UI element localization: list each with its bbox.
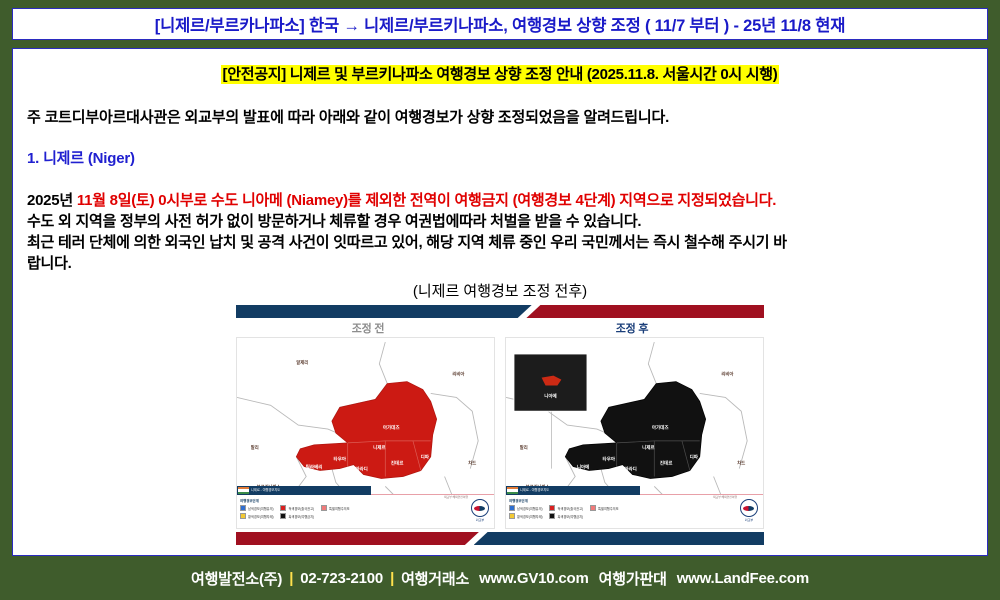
legend-item: 특별여행주의보 (321, 505, 350, 511)
paragraph-1-highlight: 11월 8일(토) 0시부로 수도 니아메 (Niamey)를 제외한 전역이 … (77, 192, 776, 209)
niger-flag-icon (507, 487, 518, 494)
legend-item: 흑색경보(여행금지) (280, 513, 314, 519)
legend-item: 적색경보(출국권고) (280, 505, 314, 511)
niger-flag-icon (238, 487, 249, 494)
top-bar-red-segment (526, 305, 764, 318)
panel-bottom-bar (236, 532, 764, 545)
map-region-label: 디파 (690, 454, 699, 461)
legend-item: 특별여행주의보 (590, 505, 619, 511)
map-region-label: 아가데즈 (652, 424, 670, 431)
map-label-row: 조정 전 조정 후 (236, 320, 764, 336)
map-neighbor-label: 말리 (251, 444, 259, 451)
legend-item: 남색경보(여행유의) (240, 505, 274, 511)
notice-highlight-title: [안전공지] 니제르 및 부르키나파소 여행경보 상향 조정 안내 (2025.… (221, 65, 780, 84)
notice-paragraph-4: 랍니다. (27, 253, 987, 274)
map-region-label: 틸라베리 (306, 464, 323, 471)
panel-top-bar (236, 305, 764, 318)
map-footer-title: 니제르 - 여행경보지도 (520, 487, 549, 492)
legend-grid: 남색경보(여행유의) 적색경보(출국권고) 특별여행주의보 황색경보(여행자제)… (240, 505, 475, 521)
map-before-footer: 니제르 - 여행경보지도 여행경보단계 남색경보(여행유의) 적색경보(출국권고… (237, 494, 494, 528)
legend-item-label: 남색경보(여행유의) (248, 506, 274, 511)
legend-title: 여행경보단계 (509, 498, 528, 503)
legend-item-label: 흑색경보(여행금지) (557, 514, 583, 519)
map-before: 알제리 리비아 말리 부르키나파소 베냉 나이지리아 차드 아가데즈 니제르 타… (236, 337, 495, 529)
mofa-seal-icon: 외교부 (470, 499, 490, 519)
legend-item: 적색경보(출국권고) (549, 505, 583, 511)
map-region-label: 디파 (421, 454, 430, 461)
legend-item-label: 황색경보(여행자제) (517, 514, 543, 519)
map-region-label: 진데르 (660, 460, 673, 467)
map-inset-capital-label: 니아메 (544, 392, 557, 399)
legend-item-label: 적색경보(출국권고) (557, 506, 583, 511)
map-row: 알제리 리비아 말리 부르키나파소 베냉 나이지리아 차드 아가데즈 니제르 타… (236, 337, 764, 529)
page-title: [니제르/부르카나파소] 한국 → 니제르/부르키나파소, 여행경보 상향 조정… (155, 12, 845, 36)
mofa-seal-caption: 외교부 (739, 518, 759, 522)
map-after-footer: 니제르 - 여행경보지도 여행경보단계 남색경보(여행유의) 적색경보(출국권고… (506, 494, 763, 528)
legend-grid: 남색경보(여행유의) 적색경보(출국권고) 특별여행주의보 황색경보(여행자제)… (509, 505, 744, 521)
legend-item-label: 특별여행주의보 (329, 506, 350, 511)
map-neighbor-label: 차드 (737, 460, 745, 467)
map-label-after: 조정 후 (500, 320, 764, 336)
footer-market-label: 여행가판대 (599, 568, 667, 589)
notice-title-row: [안전공지] 니제르 및 부르키나파소 여행경보 상향 조정 안내 (2025.… (13, 63, 987, 84)
mofa-seal-caption: 외교부 (470, 518, 490, 522)
legend-item: 황색경보(여행자제) (240, 513, 274, 519)
map-region-label: 타우아 (334, 456, 347, 463)
legend-item-label: 특별여행주의보 (598, 506, 619, 511)
legend-item-label: 남색경보(여행유의) (517, 506, 543, 511)
legend-title: 여행경보단계 (240, 498, 259, 503)
bottom-bar-red-segment (236, 532, 479, 545)
map-region-label: 마라디 (355, 466, 368, 473)
map-country-label: 니제르 (642, 444, 655, 451)
header-banner: [니제르/부르카나파소] 한국 → 니제르/부르키나파소, 여행경보 상향 조정… (12, 8, 988, 40)
map-region-label: 진데르 (391, 460, 404, 467)
paragraph-1-prefix: 2025년 (27, 192, 73, 209)
map-label-before: 조정 전 (236, 320, 500, 336)
map-neighbor-label: 리비아 (452, 371, 464, 378)
legend-item-label: 흑색경보(여행금지) (288, 514, 314, 519)
map-neighbor-label: 알제리 (296, 359, 308, 366)
map-footer-title: 니제르 - 여행경보지도 (251, 487, 280, 492)
footer-market-url[interactable]: www.LandFee.com (677, 570, 809, 587)
map-source-label: 외교부 해외안전여행 (713, 495, 737, 499)
map-region-label: 도소 (320, 473, 329, 479)
notice-body: 2025년 11월 8일(토) 0시부로 수도 니아메 (Niamey)를 제외… (27, 190, 987, 274)
notice-paragraph-2: 수도 외 지역을 정부의 사전 허가 없이 방문하거나 체류할 경우 여권법에따… (27, 211, 987, 232)
map-region-label: 마라디 (624, 466, 637, 473)
notice-paragraph-3: 최근 테러 단체에 의한 외국인 납치 및 공격 사건이 잇따르고 있어, 해당… (27, 232, 987, 253)
map-neighbor-label: 차드 (468, 460, 476, 467)
top-bar-navy-segment (236, 305, 532, 318)
map-region-label: 타우아 (603, 456, 616, 463)
section-heading-niger: 1. 니제르 (Niger) (27, 147, 987, 168)
poster-page: [니제르/부르카나파소] 한국 → 니제르/부르키나파소, 여행경보 상향 조정… (0, 0, 1000, 600)
legend-item-label: 황색경보(여행자제) (248, 514, 274, 519)
map-caption: (니제르 여행경보 조정 전후) (13, 280, 987, 301)
map-region-label: 니아메 (577, 464, 590, 471)
map-after: 알제리 리비아 말리 부르키나파소 베냉 나이지리아 차드 아가데즈 니제르 타… (505, 337, 764, 529)
footer-separator: | (390, 570, 394, 587)
legend-item: 남색경보(여행유의) (509, 505, 543, 511)
bottom-bar-navy-segment (474, 532, 764, 545)
notice-paragraph-1: 2025년 11월 8일(토) 0시부로 수도 니아메 (Niamey)를 제외… (27, 190, 987, 211)
map-source-label: 외교부 해외안전여행 (444, 495, 468, 499)
mofa-seal-icon: 외교부 (739, 499, 759, 519)
legend-item: 황색경보(여행자제) (509, 513, 543, 519)
footer-company: 여행발전소(주) (191, 568, 282, 589)
map-neighbor-label: 리비아 (721, 371, 733, 378)
map-neighbor-label: 말리 (520, 444, 528, 451)
map-comparison-panel: 조정 전 조정 후 (236, 305, 764, 545)
footer-broker-label: 여행거래소 (401, 568, 469, 589)
map-country-label: 니제르 (373, 444, 386, 451)
legend-item-label: 적색경보(출국권고) (288, 506, 314, 511)
notice-lead-paragraph: 주 코트디부아르대사관은 외교부의 발표에 따라 아래와 같이 여행경보가 상향… (27, 106, 987, 127)
legend-item: 흑색경보(여행금지) (549, 513, 583, 519)
footer-separator: | (289, 570, 293, 587)
map-region-label: 아가데즈 (383, 424, 401, 431)
footer-phone: 02-723-2100 (300, 570, 383, 587)
footer-bar: 여행발전소(주) | 02-723-2100 | 여행거래소 www.GV10.… (0, 556, 1000, 600)
notice-card: [안전공지] 니제르 및 부르키나파소 여행경보 상향 조정 안내 (2025.… (12, 48, 988, 556)
footer-broker-url[interactable]: www.GV10.com (479, 570, 589, 587)
